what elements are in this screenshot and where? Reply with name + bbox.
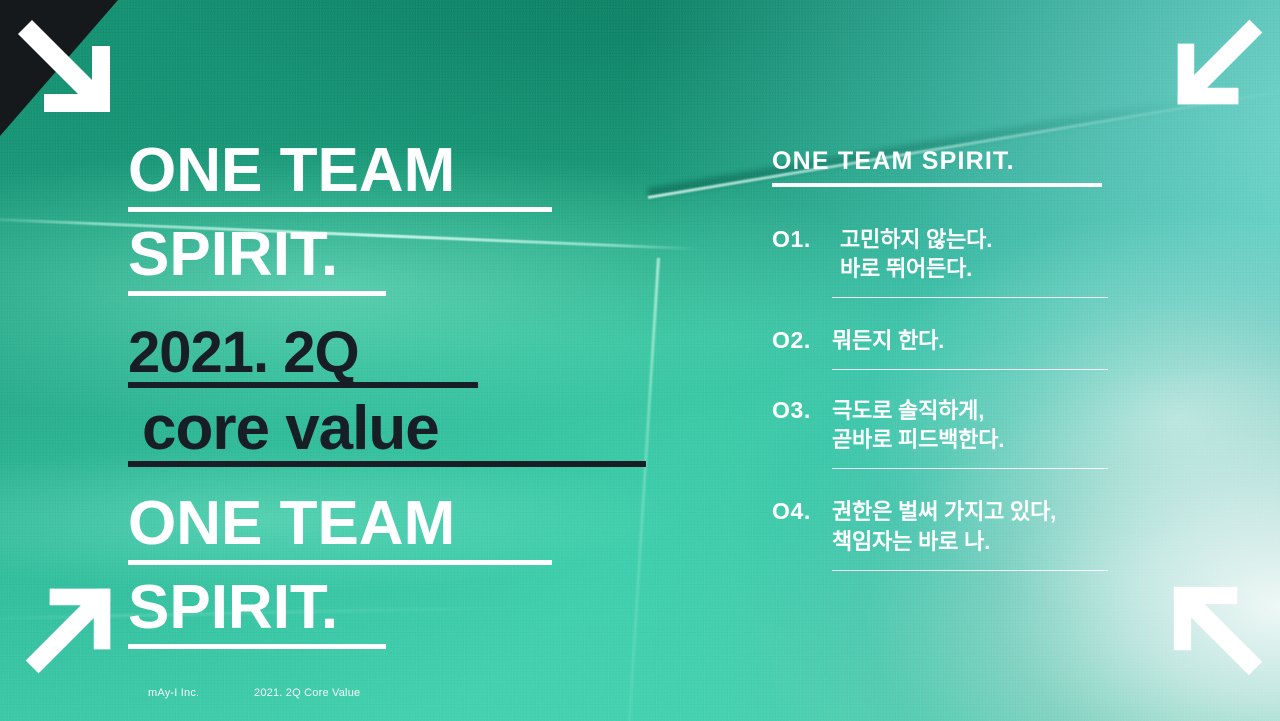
panel-title-rule (772, 183, 1102, 187)
list-item-text: 고민하지 않는다. 바로 뛰어든다. (832, 225, 992, 284)
list-item-number: O1. (772, 225, 832, 255)
arrow-up-left-icon (1170, 583, 1266, 679)
headline-line-4: core value (142, 398, 688, 460)
headline-rule-1 (128, 207, 552, 212)
list-divider (832, 468, 1108, 469)
list-item-text: 뭐든지 한다. (832, 326, 944, 355)
list-item-number: O2. (772, 326, 832, 356)
headline-rule-5 (128, 560, 552, 565)
list-divider (832, 570, 1108, 571)
core-value-list: O1. 고민하지 않는다. 바로 뛰어든다. O2. 뭐든지 한다. O3. 극… (772, 225, 1108, 571)
slide-canvas: ONE TEAM SPIRIT. 2021. 2Q core value ONE… (0, 0, 1280, 721)
list-item-number: O3. (772, 396, 832, 426)
slide-footer: mAy-I Inc. 2021. 2Q Core Value (148, 687, 360, 699)
arrow-down-right-icon (14, 16, 114, 116)
list-item-text: 권한은 벌써 가지고 있다, 책임자는 바로 나. (832, 497, 1056, 556)
headline-group-bottom: ONE TEAM SPIRIT. (128, 493, 688, 649)
list-item-text: 극도로 솔직하게, 곧바로 피드백한다. (832, 396, 1004, 455)
footer-company: mAy-I Inc. (148, 687, 254, 699)
list-item: O1. 고민하지 않는다. 바로 뛰어든다. (772, 225, 1108, 284)
core-value-panel: ONE TEAM SPIRIT. O1. 고민하지 않는다. 바로 뛰어든다. … (772, 148, 1108, 599)
headline-line-2: SPIRIT. (128, 224, 688, 289)
list-divider (832, 297, 1108, 298)
list-item: O4. 권한은 벌써 가지고 있다, 책임자는 바로 나. (772, 497, 1108, 556)
headline-line-6: SPIRIT. (128, 577, 688, 642)
headline-line-5: ONE TEAM (128, 493, 688, 558)
arrow-up-right-icon (22, 585, 114, 677)
headline-group-middle: 2021. 2Q core value (128, 324, 688, 467)
footer-subject: 2021. 2Q Core Value (254, 687, 360, 699)
list-divider (832, 369, 1108, 370)
headline-rule-6 (128, 644, 386, 649)
list-item-number: O4. (772, 497, 832, 527)
list-item: O3. 극도로 솔직하게, 곧바로 피드백한다. (772, 396, 1108, 455)
headline-line-3: 2021. 2Q (128, 324, 688, 382)
headline-group-top: ONE TEAM SPIRIT. (128, 140, 688, 296)
headline-line-1: ONE TEAM (128, 140, 688, 205)
list-item: O2. 뭐든지 한다. (772, 326, 1108, 356)
headline-block: ONE TEAM SPIRIT. 2021. 2Q core value ONE… (128, 140, 688, 655)
arrow-down-left-icon (1174, 16, 1266, 108)
panel-title: ONE TEAM SPIRIT. (772, 148, 1108, 176)
headline-rule-2 (128, 291, 386, 296)
